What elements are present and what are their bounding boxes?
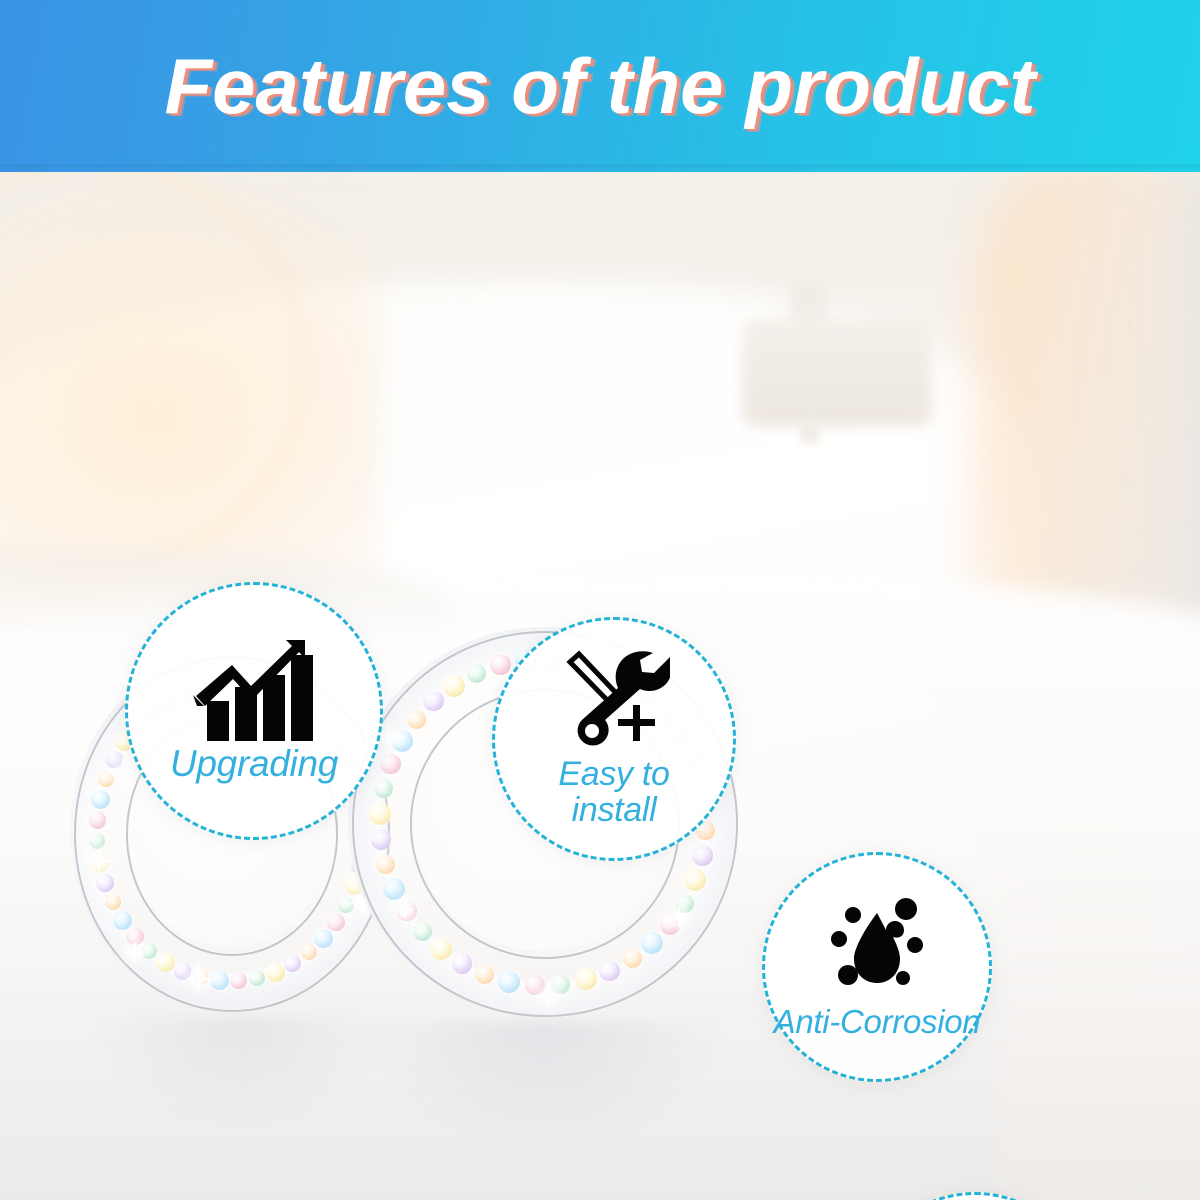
crystal-gem — [575, 968, 597, 990]
rear-view-mirror-shape — [742, 318, 932, 426]
sparkle — [109, 772, 135, 774]
crystal-gem — [413, 922, 432, 941]
crystal-gem — [443, 675, 465, 697]
crystal-gem — [380, 754, 401, 775]
crystal-gem — [113, 911, 132, 930]
crystal-gem — [467, 664, 486, 683]
crystal-gem — [692, 845, 713, 866]
feature-badge-anti-corrosion-label: Anti-Corrosion — [774, 1005, 981, 1040]
right-window-shape — [1060, 172, 1200, 922]
wrench-screwdriver-plus-icon — [558, 649, 670, 753]
sparkle — [186, 978, 210, 980]
crystal-gem — [105, 751, 123, 769]
crystal-gem — [407, 710, 426, 729]
feature-badge-anti-corrosion[interactable]: Anti-Corrosion — [762, 852, 992, 1082]
mirror-tab-shape — [800, 422, 820, 444]
crystal-gem — [301, 944, 317, 960]
crystal-gem — [327, 914, 345, 932]
crystal-gem — [156, 953, 175, 972]
crystal-gem — [551, 975, 570, 994]
feature-badge-metallic[interactable]: Metallic Material — [857, 1192, 1093, 1200]
crystal-gem — [396, 901, 417, 922]
sparkle — [87, 860, 109, 862]
crystal-gem — [210, 971, 229, 990]
sparkle — [395, 909, 413, 911]
feature-badge-easy-install-label: Easy to install — [558, 757, 669, 828]
crystal-gem — [623, 949, 642, 968]
page-title: Features of the product — [0, 34, 1200, 138]
warm-light-glow-left — [0, 172, 380, 652]
crystal-gem — [141, 943, 157, 959]
sparkle — [125, 952, 143, 954]
sparkle — [537, 995, 559, 997]
crystal-gem — [96, 874, 114, 892]
crystal-gem — [314, 929, 333, 948]
crystal-gem — [369, 803, 391, 825]
crystal-gem — [383, 878, 405, 900]
a-pillar-shape — [980, 172, 1190, 882]
crystal-gem — [89, 811, 107, 829]
warm-light-glow-right — [1010, 812, 1200, 1200]
crystal-gem — [498, 971, 520, 993]
ring-right-reflection — [365, 1022, 725, 1147]
product-photo: Upgrading Easy to in — [0, 172, 1200, 1200]
crystal-gem — [105, 894, 121, 910]
bar-chart-growth-arrow-icon — [191, 639, 317, 743]
banner-shadow — [0, 164, 1200, 172]
sparkle — [668, 917, 688, 919]
crystal-gem — [371, 829, 392, 850]
sparkle — [377, 737, 399, 739]
ring-left-reflection — [92, 1017, 392, 1127]
crystal-gem — [452, 953, 473, 974]
crystal-gem — [423, 691, 444, 712]
mirror-stem-shape — [790, 280, 828, 332]
crystal-gem — [525, 975, 546, 996]
crystal-gem — [391, 730, 413, 752]
feature-badge-upgrading[interactable]: Upgrading — [125, 582, 383, 840]
crystal-gem — [599, 961, 620, 982]
warm-light-arc — [0, 172, 308, 570]
crystal-gem — [266, 963, 285, 982]
water-droplet-dots-icon — [824, 895, 930, 1001]
feature-badge-upgrading-label: Upgrading — [170, 745, 338, 784]
crystal-gem — [490, 654, 511, 675]
feature-badge-easy-install[interactable]: Easy to install — [492, 617, 736, 861]
car-ceiling-shape — [0, 172, 1060, 402]
crystal-gem — [249, 970, 265, 986]
header-banner: Features of the product — [0, 0, 1200, 172]
crystal-gem — [374, 779, 393, 798]
product-feature-graphic: Features of the product — [0, 0, 1200, 1200]
crystal-gem — [91, 790, 110, 809]
crystal-gem — [430, 938, 452, 960]
